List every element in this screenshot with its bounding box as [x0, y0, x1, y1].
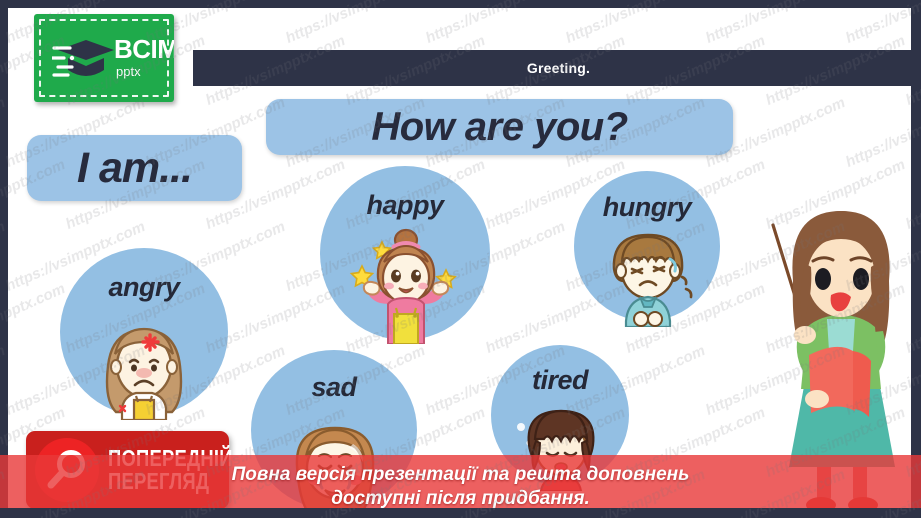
happy-girl-illustration: [340, 226, 472, 344]
emotion-circle-happy: happy: [320, 166, 490, 340]
emotion-label-sad: sad: [251, 372, 417, 403]
slide-canvas: Greeting. I am... How are you? angry: [8, 8, 911, 510]
logo-name: BCIM: [114, 36, 174, 62]
emotion-label-angry: angry: [60, 272, 228, 303]
phrase-box-i-am-label: I am...: [77, 144, 192, 193]
emotion-label-hungry: hungry: [574, 192, 720, 223]
bcim-logo: BCIM pptx: [34, 14, 174, 102]
hungry-boy-illustration: [594, 225, 704, 327]
emotion-label-tired: tired: [491, 365, 629, 396]
slide-root: Greeting. I am... How are you? angry: [0, 0, 921, 518]
watermark-text: https://vsimpptx.com: [0, 218, 8, 295]
watermark-text: https://vsimpptx.com: [0, 94, 8, 171]
logo-subtitle: pptx: [116, 65, 174, 78]
graduation-cap-icon: [52, 36, 114, 84]
purchase-notice-line1: Повна версія презентації та решта доповн…: [232, 463, 690, 486]
emotion-circle-hungry: hungry: [574, 171, 720, 321]
banner-base-strip: [0, 508, 921, 518]
phrase-box-i-am: I am...: [27, 135, 242, 201]
watermark-text: https://vsimpptx.com: [0, 342, 8, 419]
slide-header-bar: Greeting.: [193, 50, 911, 86]
angry-girl-illustration: [88, 310, 200, 420]
emotion-label-happy: happy: [320, 190, 490, 221]
purchase-notice-line2: доступні після придбання.: [331, 487, 590, 510]
emotion-circle-angry: angry: [60, 248, 228, 416]
logo-text: BCIM pptx: [114, 36, 174, 78]
phrase-box-how-are-you-label: How are you?: [371, 105, 627, 150]
slide-header-title: Greeting.: [527, 60, 590, 76]
phrase-box-how-are-you: How are you?: [266, 99, 733, 155]
watermark-text: https://vsimpptx.com: [0, 0, 8, 47]
